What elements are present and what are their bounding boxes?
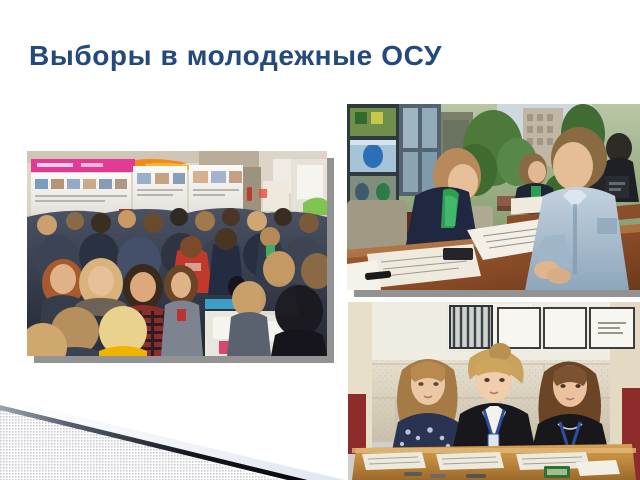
slide-canvas: Выборы в молодежные ОСУ xyxy=(0,0,640,480)
photo-crowd-of-students xyxy=(27,151,327,356)
photo-voters-filling-ballots xyxy=(347,104,640,290)
photo-election-commission-women xyxy=(348,302,640,480)
pale-band xyxy=(0,398,345,480)
page-title: Выборы в молодежные ОСУ xyxy=(29,41,609,72)
decorative-diagonal-wedge xyxy=(0,392,345,480)
halftone-triangle xyxy=(0,408,345,480)
dark-diagonal-line xyxy=(0,405,345,480)
